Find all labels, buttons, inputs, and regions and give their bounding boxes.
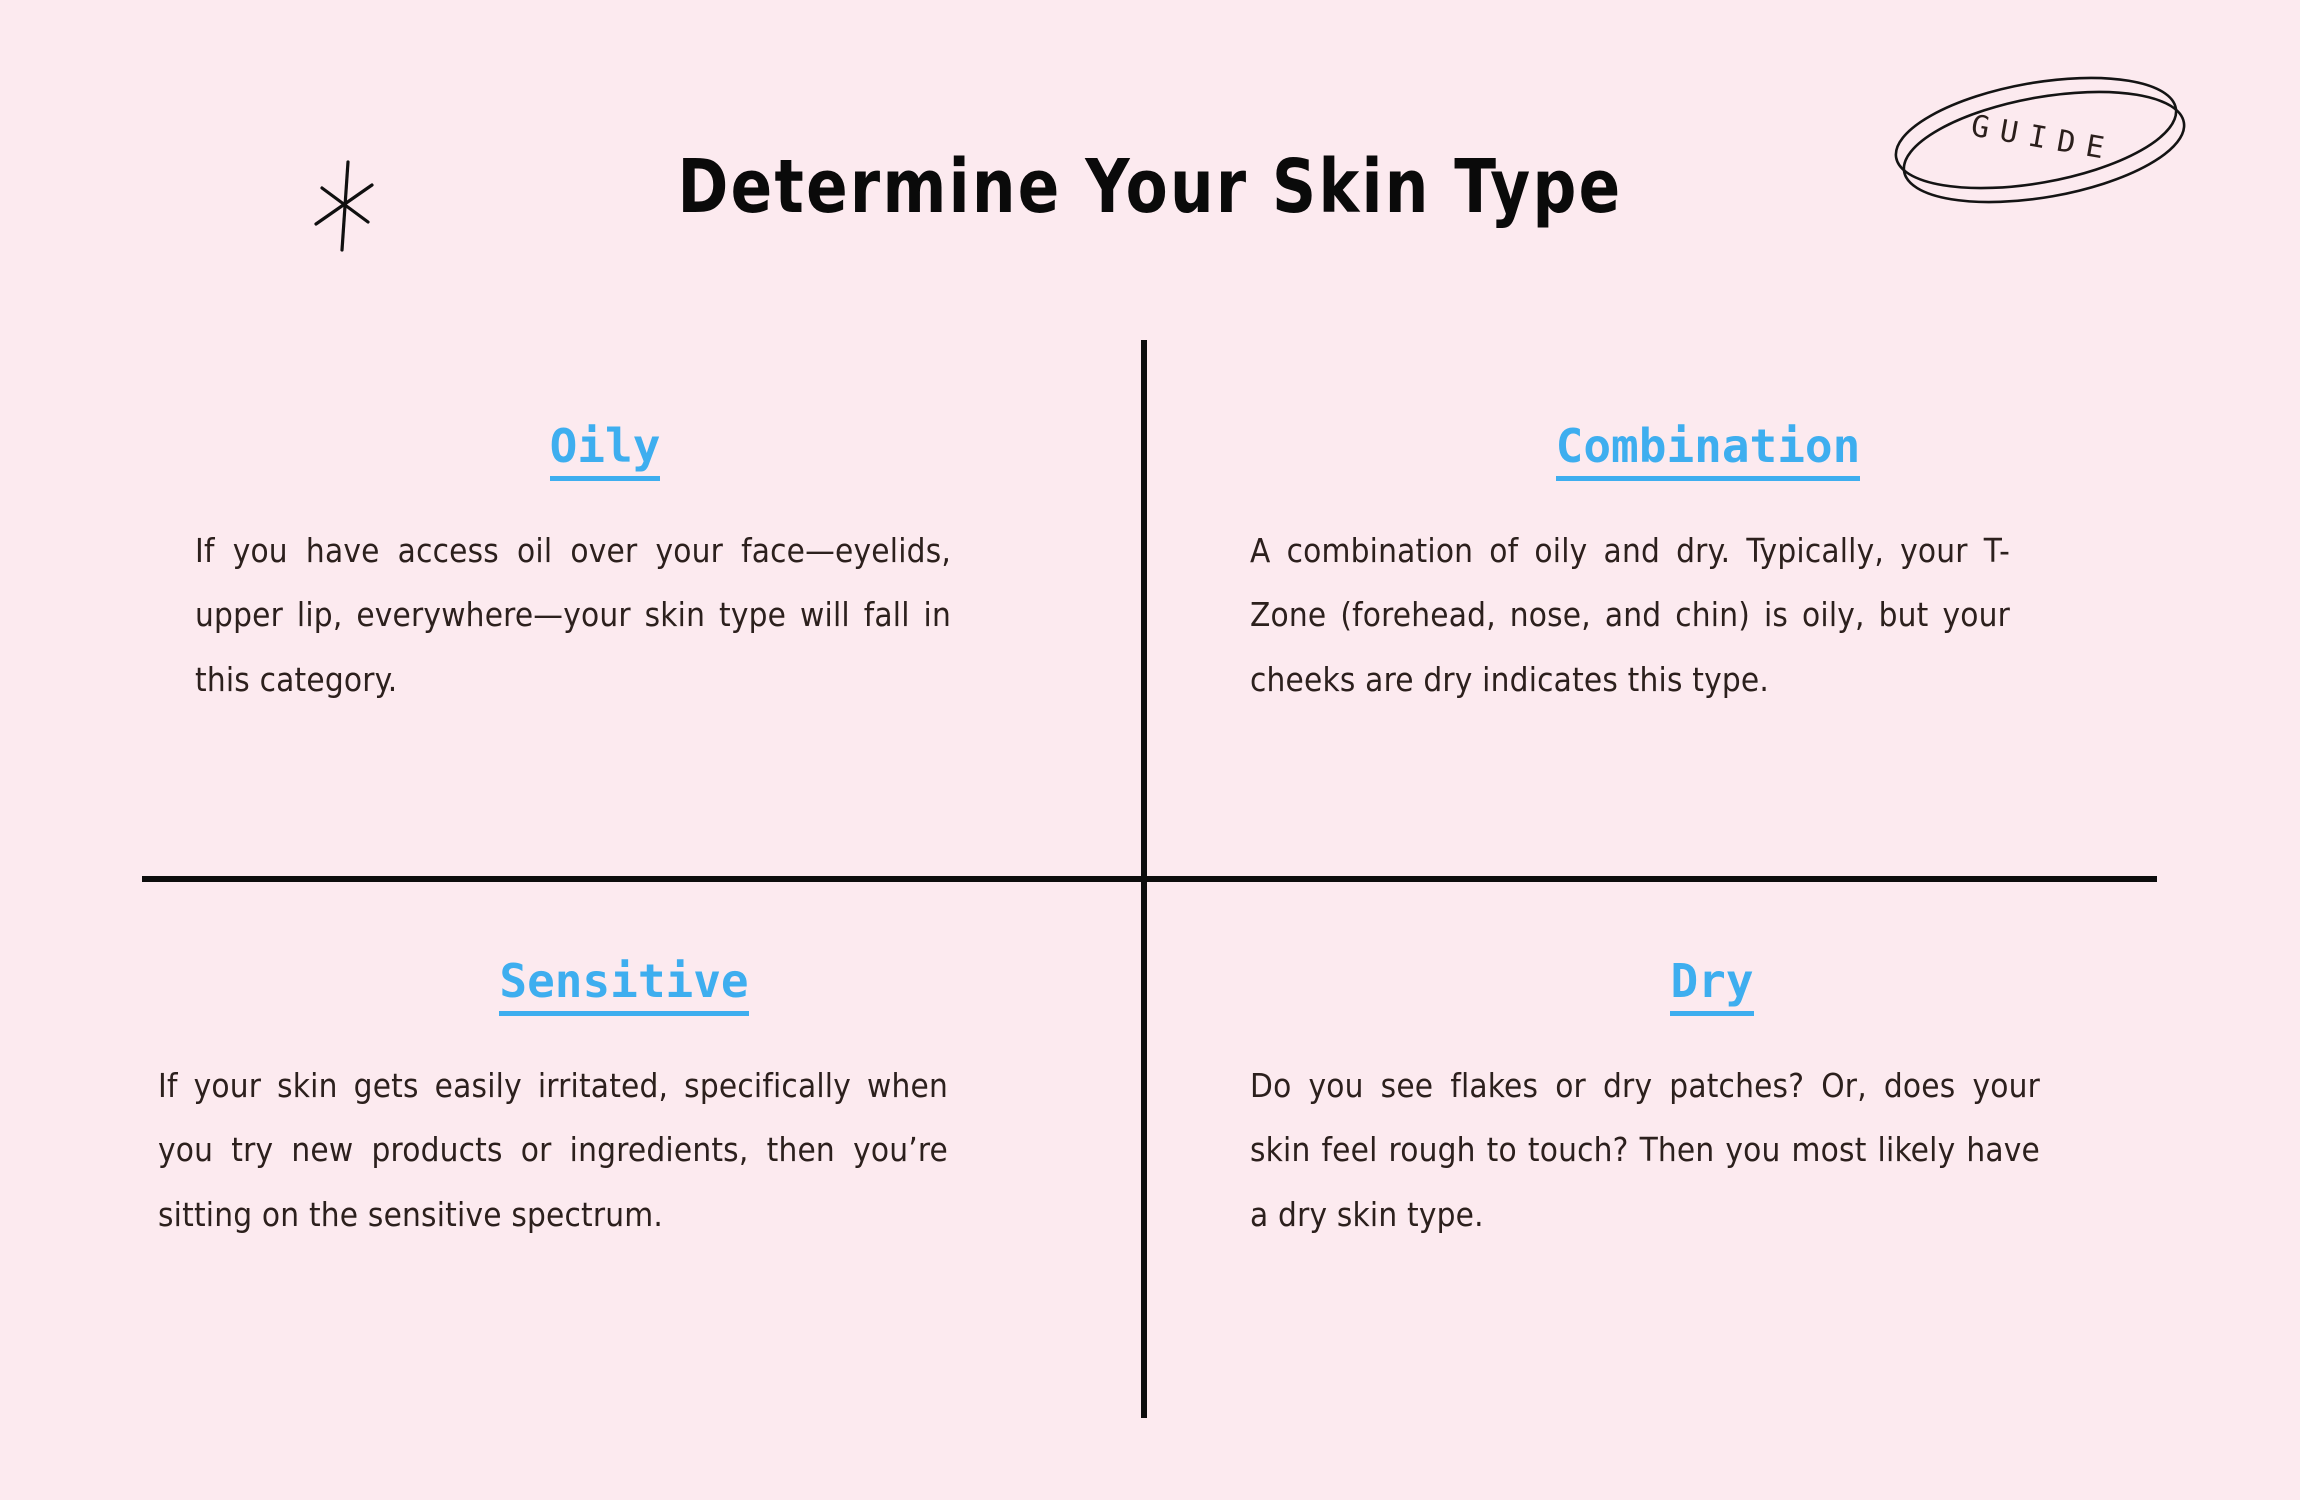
quadrant-body-sensitive: If your skin gets easily irritated, spec…	[158, 1054, 948, 1247]
divider-horizontal	[142, 876, 2157, 882]
quadrant-combination: Combination A combination of oily and dr…	[1230, 420, 2150, 712]
quadrant-body-oily: If you have access oil over your face—ey…	[195, 519, 951, 712]
guide-badge: GUIDE	[1878, 55, 2198, 220]
quadrant-heading-dry: Dry	[1274, 955, 2150, 1008]
quadrant-body-dry: Do you see flakes or dry patches? Or, do…	[1250, 1054, 2040, 1247]
quadrant-dry: Dry Do you see flakes or dry patches? Or…	[1230, 955, 2150, 1247]
quadrant-body-combination: A combination of oily and dry. Typically…	[1250, 519, 2010, 712]
quadrant-sensitive: Sensitive If your skin gets easily irrit…	[150, 955, 1070, 1247]
quadrant-heading-sensitive: Sensitive	[178, 955, 1070, 1008]
quadrant-heading-sensitive-text: Sensitive	[499, 954, 748, 1016]
quadrant-oily: Oily If you have access oil over your fa…	[150, 420, 1070, 712]
infographic-canvas: Determine Your Skin Type GUIDE Oily If y…	[0, 0, 2300, 1500]
quadrant-heading-combination-text: Combination	[1556, 419, 1861, 481]
quadrant-heading-dry-text: Dry	[1670, 954, 1753, 1016]
quadrant-heading-oily: Oily	[140, 420, 1070, 473]
quadrant-heading-combination: Combination	[1266, 420, 2150, 473]
quadrant-heading-oily-text: Oily	[550, 419, 661, 481]
